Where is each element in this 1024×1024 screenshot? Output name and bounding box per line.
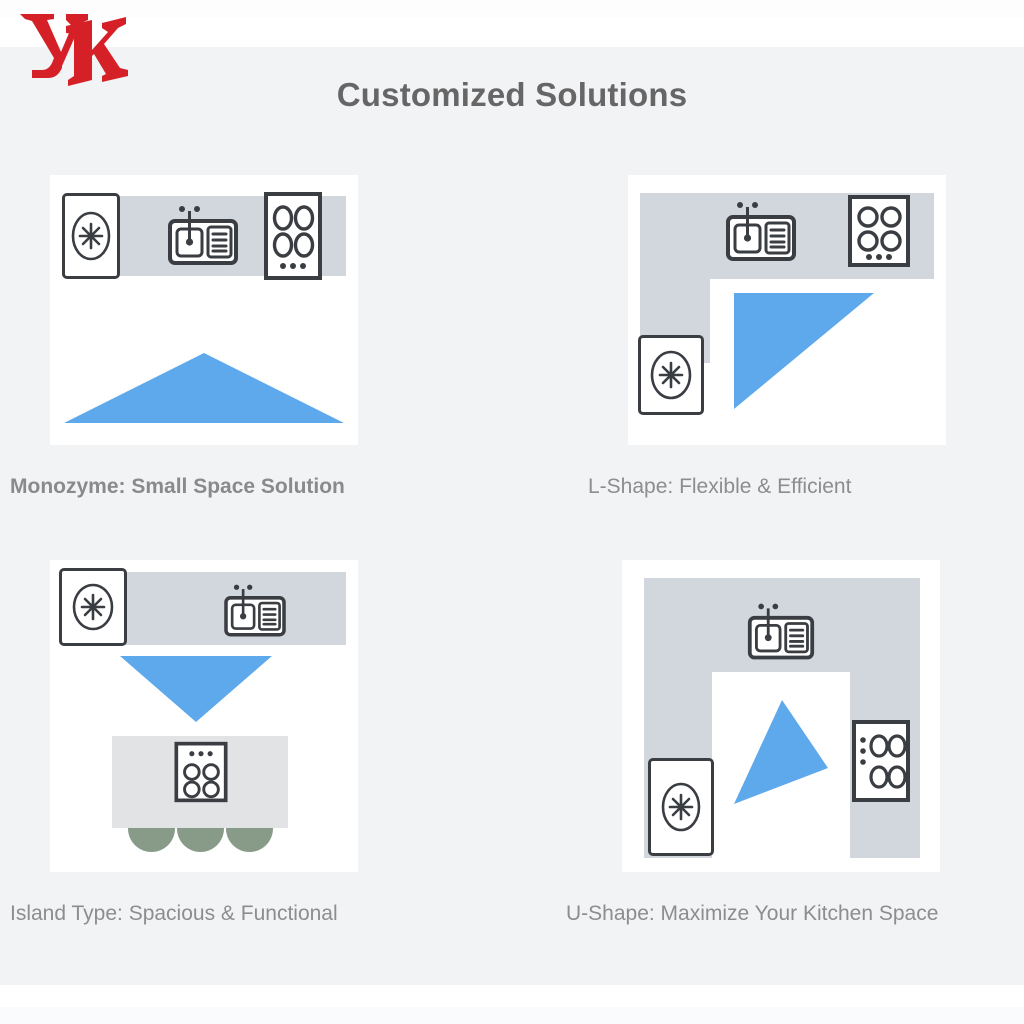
work-triangle [120, 656, 272, 722]
layout-diagram-l-shape [628, 175, 946, 445]
layout-caption: Island Type: Spacious & Functional [10, 902, 338, 926]
layout-card-l-shape[interactable]: L-Shape: Flexible & Efficient [544, 160, 1014, 430]
brand-logo[interactable] [14, 6, 134, 110]
layout-caption: L-Shape: Flexible & Efficient [588, 475, 851, 499]
top-white-band [0, 18, 1024, 47]
bottom-white-band [0, 985, 1024, 1007]
refrigerator-icon [638, 335, 704, 415]
layout-card-u-shape[interactable]: U-Shape: Maximize Your Kitchen Space [544, 550, 1014, 862]
sink-icon [746, 600, 816, 664]
cooktop-icon [850, 718, 912, 804]
stool-icon [226, 828, 273, 852]
cooktop-icon [172, 740, 230, 804]
layout-card-monozyme[interactable]: Monozyme: Small Space Solution [10, 160, 480, 430]
layout-caption: U-Shape: Maximize Your Kitchen Space [566, 902, 938, 926]
sink-icon [222, 582, 288, 640]
refrigerator-icon [59, 568, 127, 646]
sink-icon [724, 199, 798, 265]
sink-icon [166, 203, 240, 269]
stool-icon [177, 828, 224, 852]
layouts-grid: Monozyme: Small Space Solution [0, 160, 1024, 960]
refrigerator-icon [62, 193, 120, 279]
layout-diagram-monozyme [50, 175, 358, 445]
bottom-tint-band [0, 1007, 1024, 1024]
stool-icon [128, 828, 175, 852]
work-triangle [734, 700, 828, 804]
layout-caption: Monozyme: Small Space Solution [10, 475, 345, 499]
layout-diagram-island [50, 560, 358, 872]
work-triangle [64, 353, 344, 425]
cooktop-icon [846, 193, 912, 269]
layout-card-island[interactable]: Island Type: Spacious & Functional [10, 550, 480, 862]
page-title: Customized Solutions [0, 76, 1024, 114]
refrigerator-icon [648, 758, 714, 856]
layout-diagram-u-shape [622, 560, 940, 872]
cooktop-icon [262, 190, 324, 282]
work-triangle [734, 293, 874, 409]
